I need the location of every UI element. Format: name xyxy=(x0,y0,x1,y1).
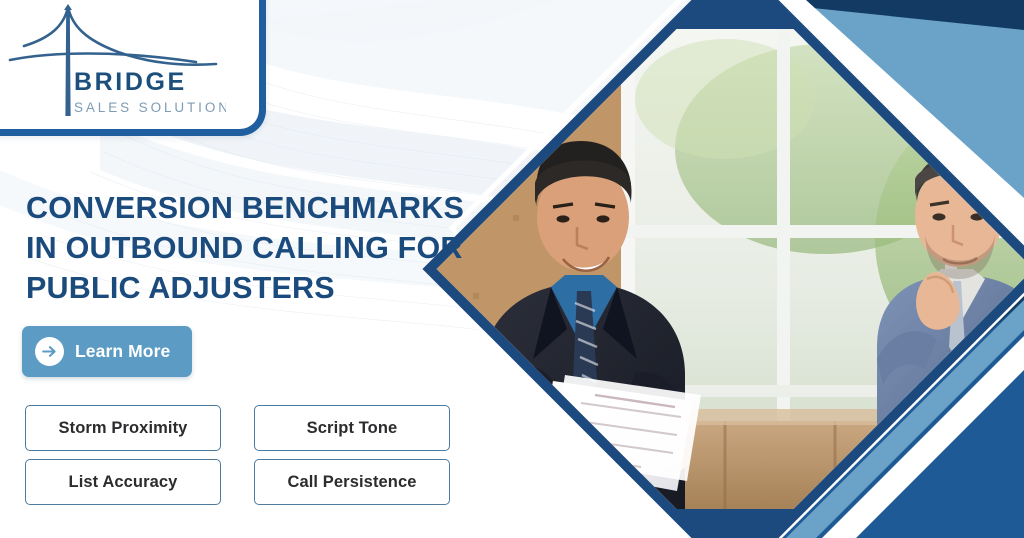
tag-label: Script Tone xyxy=(307,419,398,438)
learn-more-button[interactable]: Learn More xyxy=(22,326,192,377)
brand-logo-card[interactable]: BRIDGE SALES SOLUTIONS xyxy=(0,0,266,136)
tag-list-accuracy[interactable]: List Accuracy xyxy=(25,459,221,505)
bridge-icon: BRIDGE SALES SOLUTIONS xyxy=(6,4,226,120)
tag-storm-proximity[interactable]: Storm Proximity xyxy=(25,405,221,451)
brand-name: BRIDGE xyxy=(74,68,187,96)
arrow-right-circle-icon xyxy=(35,337,64,366)
headline-line-1: CONVERSION BENCHMARKS xyxy=(26,188,546,228)
topic-tag-grid: Storm Proximity Script Tone List Accurac… xyxy=(25,405,450,505)
tag-call-persistence[interactable]: Call Persistence xyxy=(254,459,450,505)
tag-script-tone[interactable]: Script Tone xyxy=(254,405,450,451)
headline-line-2: IN OUTBOUND CALLING FOR xyxy=(26,228,546,268)
tag-label: Storm Proximity xyxy=(59,419,188,438)
hero-photo-diamond xyxy=(498,32,972,506)
page-title: CONVERSION BENCHMARKS IN OUTBOUND CALLIN… xyxy=(26,188,546,308)
marketing-banner: BRIDGE SALES SOLUTIONS CONVERSION BENCHM… xyxy=(0,0,1024,538)
learn-more-label: Learn More xyxy=(75,341,170,362)
brand-tagline: SALES SOLUTIONS xyxy=(74,100,226,115)
headline-line-3: PUBLIC ADJUSTERS xyxy=(26,268,546,308)
tag-label: List Accuracy xyxy=(69,473,178,492)
tag-label: Call Persistence xyxy=(287,473,416,492)
